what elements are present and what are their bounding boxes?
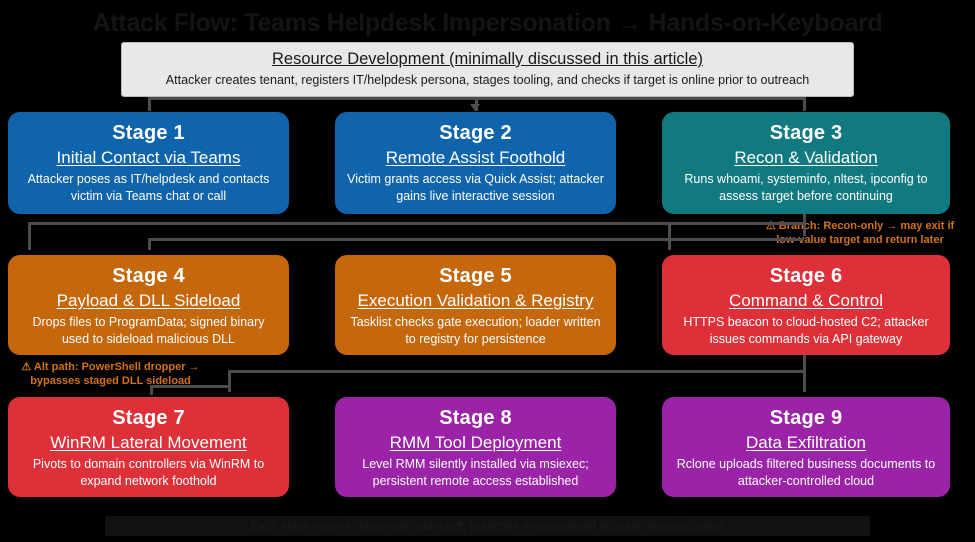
branch-note-alt-path: ⚠ Alt path: PowerShell dropper → bypasse… (8, 360, 213, 388)
stage-title: Command & Control (674, 289, 938, 312)
stage-title: Data Exfiltration (674, 431, 938, 454)
stage-card-6[interactable]: Stage 6 Command & Control HTTPS beacon t… (662, 255, 950, 355)
stage-description: Victim grants access via Quick Assist; a… (347, 169, 604, 205)
arrow-banner-to-stage2 (470, 104, 480, 111)
stage-description: Runs whoami, systeminfo, nltest, ipconfi… (674, 169, 938, 205)
stage-title: Execution Validation & Registry (347, 289, 604, 312)
stage-title: Recon & Validation (674, 146, 938, 169)
connector-to-stage8 (228, 370, 231, 392)
connector-to-stage9 (803, 370, 806, 392)
stage-number: Stage 7 (20, 406, 277, 431)
connector-row2-to-row3-upper (228, 370, 806, 373)
connector-to-stage4-left (28, 222, 31, 250)
stage-card-1[interactable]: Stage 1 Initial Contact via Teams Attack… (8, 112, 289, 214)
connector-to-stage5 (148, 238, 151, 250)
footer-caption: Each stage maps to observed tradecraft; … (105, 516, 870, 536)
stage-description: HTTPS beacon to cloud-hosted C2; attacke… (674, 312, 938, 348)
stage-card-5[interactable]: Stage 5 Execution Validation & Registry … (335, 255, 616, 355)
stage-number: Stage 5 (347, 264, 604, 289)
stage-card-9[interactable]: Stage 9 Data Exfiltration Rclone uploads… (662, 397, 950, 497)
connector-to-stage7 (150, 385, 153, 395)
stage-card-8[interactable]: Stage 8 RMM Tool Deployment Level RMM si… (335, 397, 616, 497)
stage-description: Level RMM silently installed via msiexec… (347, 454, 604, 490)
stage-card-2[interactable]: Stage 2 Remote Assist Foothold Victim gr… (335, 112, 616, 214)
stage-title: RMM Tool Deployment (347, 431, 604, 454)
stage-description: Attacker poses as IT/helpdesk and contac… (20, 169, 277, 205)
branch-note-line-1: ⚠ Alt path: PowerShell dropper → (8, 360, 213, 374)
stage-title: Remote Assist Foothold (347, 146, 604, 169)
stage-title: WinRM Lateral Movement (20, 431, 277, 454)
stage-title: Payload & DLL Sideload (20, 289, 277, 312)
stage-number: Stage 1 (20, 121, 277, 146)
stage-card-4[interactable]: Stage 4 Payload & DLL Sideload Drops fil… (8, 255, 289, 355)
connector-row2-to-row3-lower (150, 385, 230, 388)
stage-number: Stage 3 (674, 121, 938, 146)
connector-banner-to-stage3 (803, 97, 806, 111)
stage-number: Stage 6 (674, 264, 938, 289)
stage-description: Rclone uploads filtered business documen… (674, 454, 938, 490)
stage-description: Tasklist checks gate execution; loader w… (347, 312, 604, 348)
resource-development-banner: Resource Development (minimally discusse… (121, 42, 854, 97)
connector-to-stage6-right (668, 222, 671, 250)
stage-card-7[interactable]: Stage 7 WinRM Lateral Movement Pivots to… (8, 397, 289, 497)
stage-number: Stage 2 (347, 121, 604, 146)
stage-card-3[interactable]: Stage 3 Recon & Validation Runs whoami, … (662, 112, 950, 214)
resource-development-description: Attacker creates tenant, registers IT/he… (122, 71, 853, 89)
attack-flow-diagram: Attack Flow: Teams Helpdesk Impersonatio… (0, 0, 975, 542)
stage-number: Stage 8 (347, 406, 604, 431)
stage-title: Initial Contact via Teams (20, 146, 277, 169)
stage-description: Drops files to ProgramData; signed binar… (20, 312, 277, 348)
stage-number: Stage 9 (674, 406, 938, 431)
stage-number: Stage 4 (20, 264, 277, 289)
connector-stage3-down (803, 214, 806, 236)
resource-development-heading: Resource Development (minimally discusse… (122, 48, 853, 71)
page-title: Attack Flow: Teams Helpdesk Impersonatio… (0, 8, 975, 38)
connector-row1-to-row2-lower (148, 238, 804, 241)
connector-row1-to-row2-upper (28, 222, 804, 225)
stage-description: Pivots to domain controllers via WinRM t… (20, 454, 277, 490)
